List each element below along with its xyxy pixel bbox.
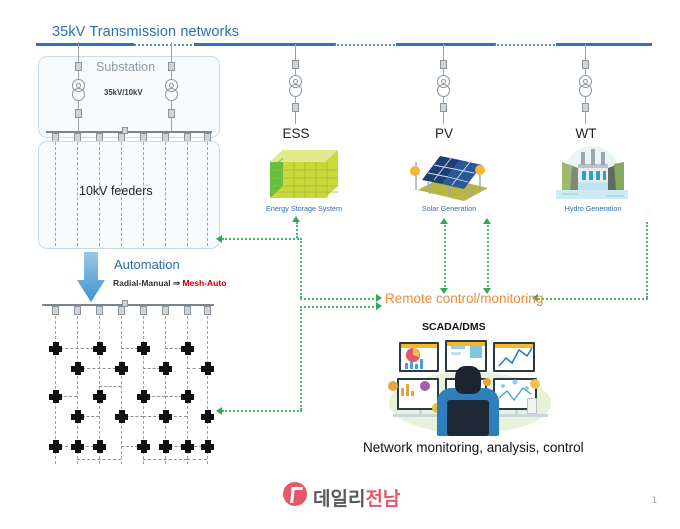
daily-jeonnam-logo-icon	[283, 482, 307, 506]
signal-network	[0, 0, 680, 470]
logo-text-dark: 데일리	[313, 489, 365, 510]
logo-text-red: 전남	[365, 489, 400, 510]
remote-control-label: Remote control/monitoring	[385, 291, 543, 306]
page-number: 1	[652, 495, 657, 505]
slide-canvas: 35kV Transmission networks Substation 35…	[0, 0, 680, 529]
scada-operator-illustration	[375, 336, 565, 436]
network-monitoring-caption: Network monitoring, analysis, control	[363, 440, 584, 455]
logo-wordmark: 데일리전남	[313, 484, 400, 511]
scada-dms-label: SCADA/DMS	[422, 321, 486, 333]
